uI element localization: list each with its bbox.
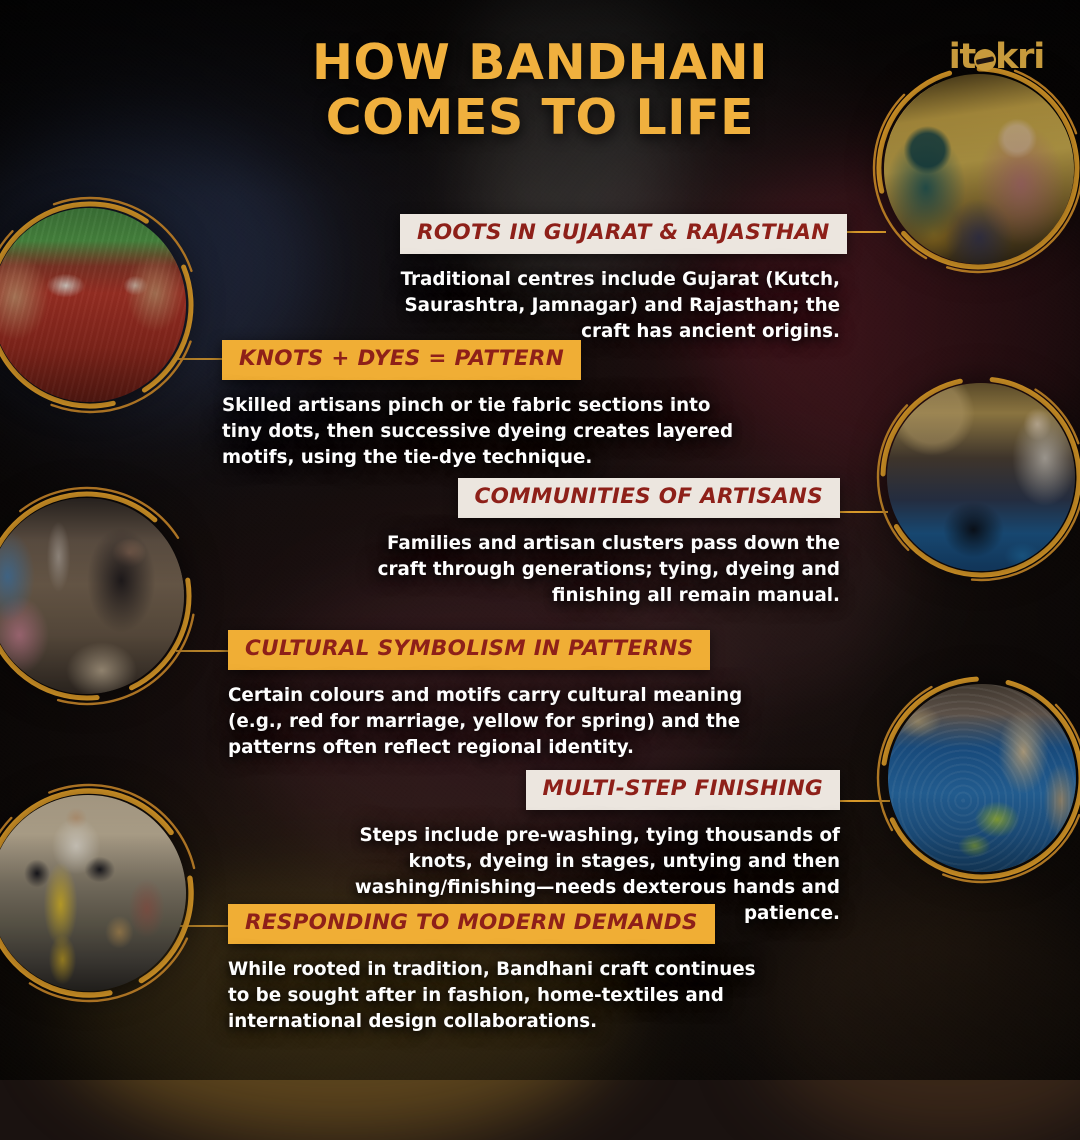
section-heading-symbolism: CULTURAL SYMBOLISM IN PATTERNS xyxy=(228,630,710,670)
section-symbolism: CULTURAL SYMBOLISM IN PATTERNS Certain c… xyxy=(228,630,773,761)
photo-dyer-blue-vat xyxy=(887,383,1075,571)
section-modern-demands: RESPONDING TO MODERN DEMANDS While roote… xyxy=(228,904,783,1035)
logo-text-it: it xyxy=(949,37,975,77)
section-heading-communities: COMMUNITIES OF ARTISANS xyxy=(458,478,840,518)
page-title-line-2: COMES TO LIFE xyxy=(326,89,755,146)
photo-artisan-yellow-cloth xyxy=(0,795,186,991)
section-knots-dyes: KNOTS + DYES = PATTERN Skilled artisans … xyxy=(222,340,752,471)
connector-line-finishing xyxy=(840,800,890,802)
section-heading-modern-demands: RESPONDING TO MODERN DEMANDS xyxy=(228,904,715,944)
section-body-roots: Traditional centres include Gujarat (Kut… xyxy=(400,267,840,345)
itokri-logo[interactable]: itkri xyxy=(949,40,1044,75)
logo-circle-o-icon xyxy=(974,49,996,71)
section-communities: COMMUNITIES OF ARTISANS Families and art… xyxy=(360,478,840,609)
section-heading-knots-dyes: KNOTS + DYES = PATTERN xyxy=(222,340,581,380)
photo-women-cream-fabric xyxy=(0,498,184,694)
section-body-modern-demands: While rooted in tradition, Bandhani craf… xyxy=(228,957,783,1035)
photo-fabric-indigo-dip xyxy=(888,684,1076,872)
page-title: HOW BANDHANI COMES TO LIFE xyxy=(0,36,1080,146)
page-title-line-1: HOW BANDHANI xyxy=(312,34,768,91)
connector-line-communities xyxy=(840,511,888,513)
section-roots: ROOTS IN GUJARAT & RAJASTHAN Traditional… xyxy=(400,214,840,345)
section-body-symbolism: Certain colours and motifs carry cultura… xyxy=(228,683,773,761)
section-heading-roots: ROOTS IN GUJARAT & RAJASTHAN xyxy=(400,214,847,254)
section-heading-finishing: MULTI-STEP FINISHING xyxy=(526,770,840,810)
section-body-knots-dyes: Skilled artisans pinch or tie fabric sec… xyxy=(222,393,752,471)
section-body-communities: Families and artisan clusters pass down … xyxy=(360,531,840,609)
logo-text-kri: kri xyxy=(995,37,1044,77)
connector-line-roots xyxy=(840,231,886,233)
photo-hands-tying-red xyxy=(0,208,186,402)
